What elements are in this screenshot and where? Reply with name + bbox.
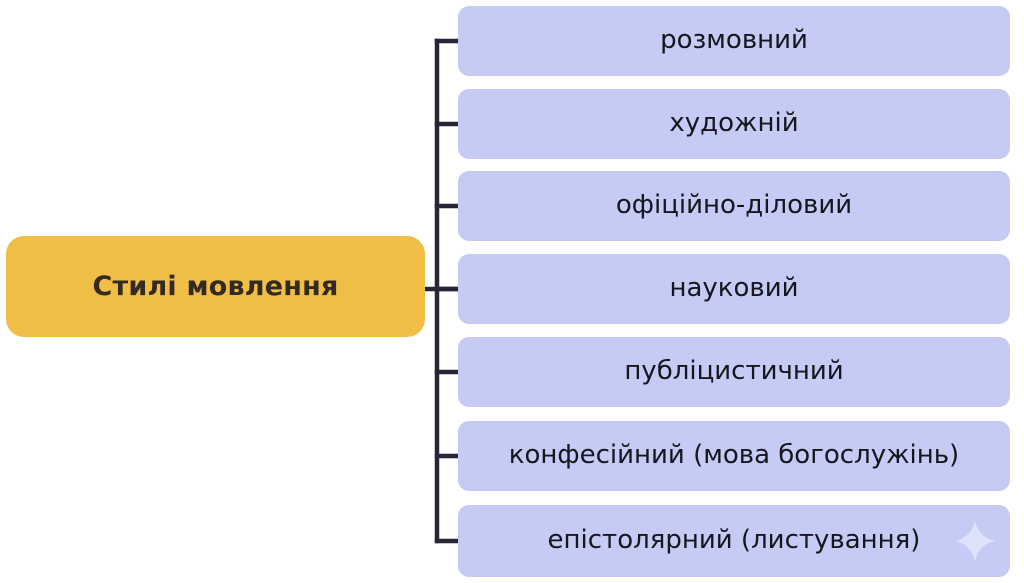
root-node-label: Стилі мовлення [92, 272, 338, 302]
branch-label-1: розмовний [660, 26, 808, 56]
sparkle-icon [952, 518, 998, 564]
branch-label-2: художній [669, 109, 798, 139]
branch-box-5[interactable]: публіцистичний [458, 337, 1010, 407]
branch-label-4: науковий [669, 274, 798, 304]
branch-label-5: публіцистичний [624, 357, 843, 387]
branch-box-3[interactable]: офіційно-діловий [458, 171, 1010, 241]
branch-box-7[interactable]: епістолярний (листування) [458, 505, 1010, 577]
branch-box-6[interactable]: конфесійний (мова богослужінь) [458, 421, 1010, 491]
branch-label-3: офіційно-діловий [616, 191, 852, 221]
branch-box-1[interactable]: розмовний [458, 6, 1010, 76]
root-node[interactable]: Стилі мовлення [6, 236, 425, 337]
speech-styles-diagram: Стилі мовлення розмовний художній офіцій… [0, 0, 1024, 583]
branch-label-6: конфесійний (мова богослужінь) [509, 441, 959, 471]
branch-label-7: епістолярний (листування) [548, 526, 921, 556]
branch-box-2[interactable]: художній [458, 89, 1010, 159]
branch-box-4[interactable]: науковий [458, 254, 1010, 324]
